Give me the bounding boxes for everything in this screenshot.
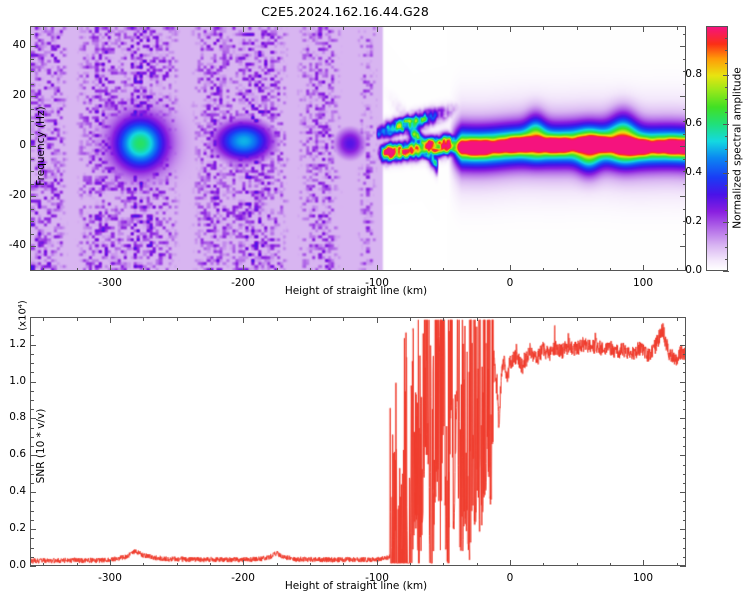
axis-tick	[725, 234, 729, 235]
axis-tick	[243, 265, 244, 271]
axis-tick	[723, 173, 729, 174]
axis-tick	[725, 149, 729, 150]
axis-tick	[577, 563, 578, 567]
axis-tick-label: -300	[85, 572, 135, 584]
axis-tick	[30, 345, 36, 346]
axis-tick	[725, 38, 729, 39]
axis-tick-label: 0.2	[0, 522, 26, 534]
axis-tick	[210, 268, 211, 272]
axis-tick	[30, 159, 34, 160]
axis-tick	[680, 196, 686, 197]
axis-tick	[725, 63, 729, 64]
axis-tick	[77, 26, 78, 30]
axis-tick	[310, 563, 311, 567]
axis-tick	[110, 265, 111, 271]
axis-tick	[683, 159, 687, 160]
axis-tick	[30, 71, 34, 72]
axis-tick	[110, 26, 111, 32]
axis-tick	[30, 134, 34, 135]
axis-tick	[177, 268, 178, 272]
axis-tick	[443, 317, 444, 321]
axis-tick	[410, 26, 411, 30]
axis-tick	[30, 363, 34, 364]
axis-tick	[30, 246, 36, 247]
axis-tick	[543, 563, 544, 567]
axis-tick-label: 1.0	[0, 375, 26, 387]
axis-tick	[277, 317, 278, 321]
axis-tick-label: 0.8	[0, 411, 26, 423]
axis-tick	[277, 268, 278, 272]
axis-tick	[683, 363, 687, 364]
axis-tick	[725, 259, 729, 260]
axis-tick	[683, 84, 687, 85]
axis-tick	[725, 112, 729, 113]
axis-tick	[143, 317, 144, 321]
axis-tick-label: 100	[618, 572, 668, 584]
axis-tick	[677, 317, 678, 321]
axis-tick	[723, 75, 729, 76]
axis-tick	[510, 560, 511, 566]
axis-tick	[477, 317, 478, 321]
axis-tick	[683, 548, 687, 549]
axis-tick	[543, 317, 544, 321]
axis-tick	[277, 563, 278, 567]
axis-tick	[210, 317, 211, 321]
axis-tick	[30, 234, 34, 235]
axis-tick	[725, 136, 729, 137]
axis-tick	[30, 437, 34, 438]
axis-tick	[680, 382, 686, 383]
axis-tick	[477, 563, 478, 567]
colorbar-tick-label: 0.6	[672, 117, 702, 129]
axis-tick	[30, 84, 34, 85]
snr-multiplier-wrap: (x10⁴)	[8, 310, 38, 321]
axis-tick	[610, 268, 611, 272]
axis-tick	[30, 34, 34, 35]
spectrogram-panel	[30, 26, 686, 271]
axis-tick	[683, 234, 687, 235]
axis-tick	[310, 26, 311, 30]
axis-tick-label: 20	[0, 89, 26, 101]
axis-tick	[30, 501, 34, 502]
axis-tick	[577, 26, 578, 30]
axis-tick	[30, 465, 34, 466]
axis-tick	[30, 474, 34, 475]
axis-tick	[725, 99, 729, 100]
colorbar-label-wrap: Normalized spectral amplitude	[731, 26, 745, 271]
axis-tick	[30, 483, 34, 484]
axis-tick	[683, 109, 687, 110]
axis-tick	[683, 209, 687, 210]
axis-tick	[683, 557, 687, 558]
axis-tick	[443, 563, 444, 567]
axis-tick	[725, 50, 729, 51]
colorbar-label: Normalized spectral amplitude	[732, 26, 744, 271]
axis-tick	[680, 246, 686, 247]
axis-tick	[510, 265, 511, 271]
axis-tick	[680, 345, 686, 346]
axis-tick	[77, 268, 78, 272]
axis-tick	[177, 317, 178, 321]
axis-tick	[143, 268, 144, 272]
axis-tick-label: -40	[0, 239, 26, 251]
axis-tick	[43, 26, 44, 30]
axis-tick	[243, 317, 244, 323]
axis-tick	[277, 26, 278, 30]
axis-tick	[577, 317, 578, 321]
axis-tick	[683, 465, 687, 466]
axis-tick-label: -300	[85, 277, 135, 289]
axis-tick	[683, 446, 687, 447]
axis-tick	[310, 268, 311, 272]
axis-tick	[683, 409, 687, 410]
axis-tick	[377, 560, 378, 566]
axis-tick	[680, 46, 686, 47]
axis-tick	[30, 520, 34, 521]
spectrogram-x-axis-label: Height of straight line (km)	[176, 285, 536, 297]
axis-tick	[30, 209, 34, 210]
axis-tick	[243, 26, 244, 32]
axis-tick	[680, 96, 686, 97]
axis-tick	[725, 185, 729, 186]
axis-tick	[683, 511, 687, 512]
axis-tick	[683, 184, 687, 185]
axis-tick	[680, 566, 686, 567]
axis-tick	[543, 26, 544, 30]
axis-tick	[683, 354, 687, 355]
axis-tick	[30, 221, 34, 222]
axis-tick	[410, 317, 411, 321]
axis-tick	[723, 124, 729, 125]
axis-tick	[680, 529, 686, 530]
snr-panel	[30, 317, 686, 566]
axis-tick	[643, 560, 644, 566]
axis-tick	[725, 87, 729, 88]
axis-tick	[30, 335, 34, 336]
axis-tick	[30, 391, 34, 392]
axis-tick	[725, 198, 729, 199]
snr-y-axis-label: SNR (10 * v/v)	[35, 361, 47, 531]
axis-tick	[30, 184, 34, 185]
axis-tick	[725, 247, 729, 248]
axis-tick	[643, 265, 644, 271]
snr-multiplier-label: (x10⁴)	[18, 300, 29, 330]
axis-tick	[725, 210, 729, 211]
axis-tick	[680, 455, 686, 456]
axis-tick	[610, 26, 611, 30]
axis-tick	[30, 538, 34, 539]
snr-canvas	[31, 318, 685, 565]
axis-tick	[680, 492, 686, 493]
axis-tick	[30, 354, 34, 355]
figure-root: C2E5.2024.162.16.44.G28 -300-200-1000100…	[0, 0, 750, 600]
axis-tick	[177, 26, 178, 30]
axis-tick	[683, 437, 687, 438]
axis-tick	[683, 391, 687, 392]
axis-tick	[77, 563, 78, 567]
axis-tick	[30, 557, 34, 558]
axis-tick-label: -20	[0, 189, 26, 201]
axis-tick-label: 0.0	[0, 559, 26, 571]
axis-tick	[110, 560, 111, 566]
axis-tick	[683, 483, 687, 484]
axis-tick	[43, 563, 44, 567]
axis-tick	[177, 563, 178, 567]
snr-x-axis-label: Height of straight line (km)	[176, 580, 536, 592]
axis-tick	[410, 268, 411, 272]
axis-tick	[30, 59, 34, 60]
axis-tick	[30, 400, 34, 401]
axis-tick	[410, 563, 411, 567]
axis-tick	[210, 26, 211, 30]
axis-tick-label: 1.2	[0, 338, 26, 350]
axis-tick	[343, 268, 344, 272]
axis-tick	[677, 563, 678, 567]
axis-tick	[30, 409, 34, 410]
axis-tick-label: 40	[0, 39, 26, 51]
axis-tick	[143, 26, 144, 30]
axis-tick	[510, 317, 511, 323]
axis-tick	[30, 109, 34, 110]
axis-tick	[30, 372, 34, 373]
axis-tick	[30, 428, 34, 429]
axis-tick	[683, 428, 687, 429]
axis-tick	[543, 268, 544, 272]
axis-tick	[680, 146, 686, 147]
axis-tick	[30, 171, 34, 172]
axis-tick	[683, 372, 687, 373]
axis-tick	[723, 222, 729, 223]
axis-tick	[377, 317, 378, 323]
axis-tick	[683, 59, 687, 60]
axis-tick	[725, 161, 729, 162]
axis-tick	[677, 26, 678, 30]
colorbar-tick-label: 0.4	[672, 166, 702, 178]
axis-tick	[477, 268, 478, 272]
axis-tick	[343, 563, 344, 567]
axis-tick-label: 0	[0, 139, 26, 151]
axis-tick	[43, 317, 44, 321]
axis-tick-label: 100	[618, 277, 668, 289]
axis-tick	[683, 400, 687, 401]
axis-tick	[680, 418, 686, 419]
axis-tick	[310, 317, 311, 321]
axis-tick	[683, 501, 687, 502]
axis-tick	[343, 26, 344, 30]
axis-tick	[30, 446, 34, 447]
axis-tick	[610, 563, 611, 567]
axis-tick	[243, 560, 244, 566]
axis-tick	[477, 26, 478, 30]
axis-tick	[143, 563, 144, 567]
spectrogram-y-axis-label: Frequency (Hz)	[35, 66, 47, 226]
axis-tick	[510, 26, 511, 32]
axis-tick	[643, 317, 644, 323]
axis-tick	[30, 548, 34, 549]
axis-tick-label: 0.4	[0, 485, 26, 497]
axis-tick	[683, 34, 687, 35]
axis-tick	[723, 271, 729, 272]
axis-tick	[683, 474, 687, 475]
axis-tick	[683, 335, 687, 336]
spectrogram-canvas	[31, 27, 685, 270]
axis-tick	[30, 46, 36, 47]
axis-tick	[683, 134, 687, 135]
axis-tick	[377, 26, 378, 32]
axis-tick	[77, 317, 78, 321]
axis-tick	[110, 317, 111, 323]
axis-tick	[443, 26, 444, 30]
axis-tick	[610, 317, 611, 321]
axis-tick	[643, 26, 644, 32]
axis-tick-label: 0.6	[0, 448, 26, 460]
axis-tick	[30, 511, 34, 512]
axis-tick	[343, 317, 344, 321]
axis-tick	[577, 268, 578, 272]
axis-tick	[443, 268, 444, 272]
axis-tick	[210, 563, 211, 567]
figure-title: C2E5.2024.162.16.44.G28	[0, 4, 690, 19]
axis-tick	[683, 520, 687, 521]
colorbar-tick-label: 0.0	[672, 264, 702, 276]
axis-tick	[43, 268, 44, 272]
axis-tick	[377, 265, 378, 271]
axis-tick	[30, 121, 34, 122]
colorbar-tick-label: 0.8	[672, 68, 702, 80]
axis-tick	[30, 566, 36, 567]
colorbar-tick-label: 0.2	[672, 215, 702, 227]
axis-tick	[683, 538, 687, 539]
